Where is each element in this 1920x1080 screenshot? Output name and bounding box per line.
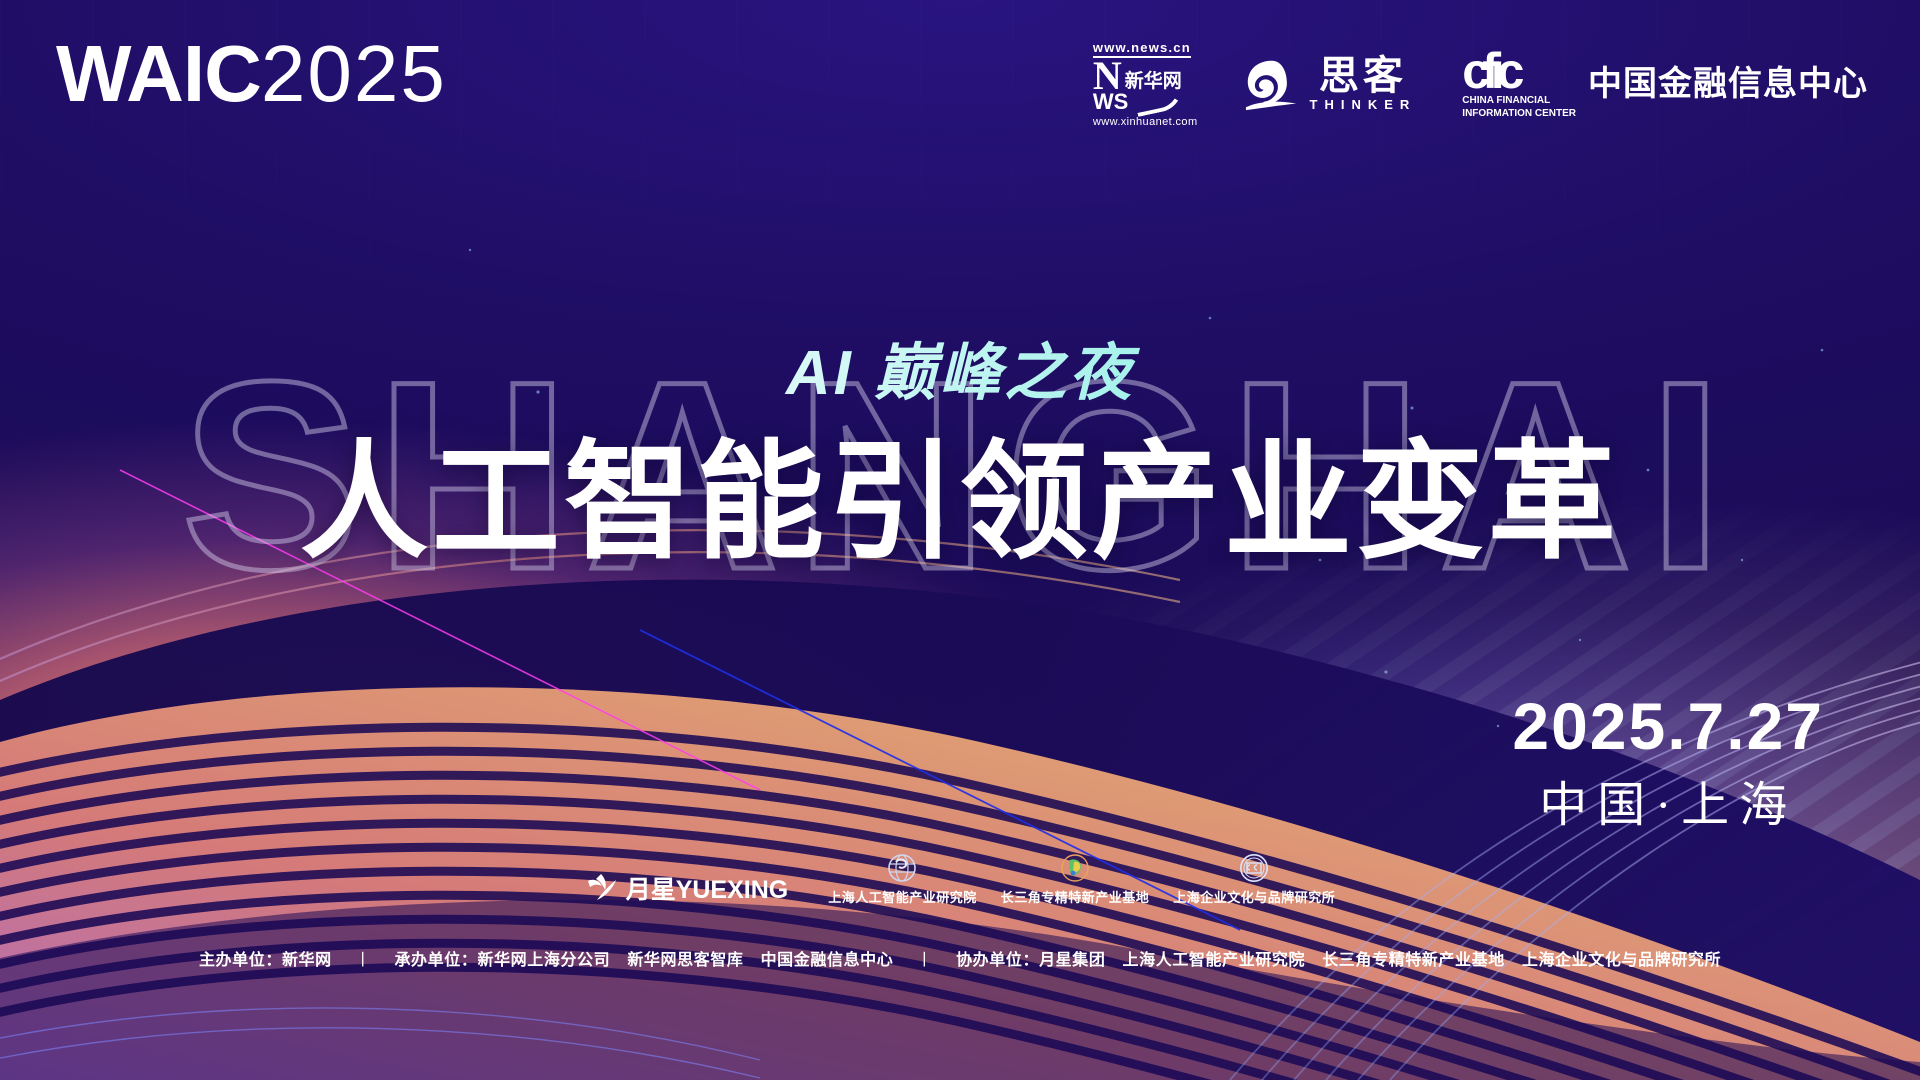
partner-yuexing-label: 月星YUEXING <box>626 870 789 906</box>
waic-logo-year: 2025 <box>261 29 447 118</box>
credits-line: 主办单位：新华网 丨 承办单位：新华网上海分公司 新华网思客智库 中国金融信息中… <box>0 946 1920 970</box>
credits-coorganizer-3: 长三角专精特新产业基地 <box>1322 946 1505 970</box>
globe-circle-icon <box>887 852 917 884</box>
map-circle-icon <box>1060 852 1090 884</box>
thinker-cn-name: 思客 <box>1319 56 1407 96</box>
poster-canvas: SHANGHAI WAIC2025 www.news.cn N 新华网 WS w… <box>0 0 1920 1080</box>
hero-title: 人工智能引领产业变革 <box>0 432 1920 574</box>
credits-organizer: 承办单位：新华网上海分公司 <box>394 946 610 970</box>
partner-shanghai-brand-institute-label: 上海企业文化与品牌研究所 <box>1173 887 1335 906</box>
partner-logo-row: 月星YUEXING 上海人工智能产业研究院 <box>0 852 1920 906</box>
waic-logo: WAIC2025 <box>56 34 447 114</box>
sponsor-logo-row: www.news.cn N 新华网 WS www.xinhuanet.com <box>1093 40 1868 128</box>
xinhua-logo: www.news.cn N 新华网 WS www.xinhuanet.com <box>1093 40 1198 128</box>
thinker-logo: 思客 THINKER <box>1244 56 1417 112</box>
partner-shanghai-brand-institute: 上海企业文化与品牌研究所 <box>1173 852 1335 906</box>
hero-subtitle: AI 巅峰之夜 <box>0 338 1920 410</box>
partner-yangtze-delta-base: 长三角专精特新产业基地 <box>1001 852 1150 906</box>
waic-logo-name: WAIC <box>56 29 261 118</box>
cfic-logo: cfic CHINA FINANCIAL INFORMATION CENTER … <box>1462 49 1868 119</box>
thinker-en-name: THINKER <box>1310 97 1417 112</box>
partner-yuexing: 月星YUEXING <box>585 870 789 906</box>
cfic-mark: cfic <box>1462 49 1576 93</box>
credits-separator-2: 丨 <box>916 946 933 970</box>
credits-coorganizer-2: 上海人工智能产业研究院 <box>1123 946 1306 970</box>
xinhua-letters-bottom: WS <box>1093 92 1128 111</box>
seal-circle-icon <box>1239 852 1269 884</box>
event-date: 2025.7.27 <box>1512 690 1824 762</box>
cfic-en-line2: INFORMATION CENTER <box>1462 108 1576 119</box>
header: WAIC2025 www.news.cn N 新华网 WS www.xinhua… <box>0 0 1920 140</box>
star-bird-icon <box>585 871 619 903</box>
event-location: 中国·上海 <box>1512 776 1824 836</box>
credits-organizer-3: 中国金融信息中心 <box>761 946 894 970</box>
credits-coorganizer-4: 上海企业文化与品牌研究所 <box>1522 946 1721 970</box>
credits-coorganizer: 协办单位：月星集团 <box>956 946 1105 970</box>
thinker-spiral-icon <box>1244 57 1300 111</box>
partner-yangtze-delta-base-label: 长三角专精特新产业基地 <box>1001 887 1150 906</box>
credits-separator-1: 丨 <box>355 946 372 970</box>
cfic-en-line1: CHINA FINANCIAL <box>1462 95 1576 106</box>
partner-shanghai-ai-institute-label: 上海人工智能产业研究院 <box>828 887 977 906</box>
credits-host: 主办单位：新华网 <box>199 946 332 970</box>
partner-shanghai-ai-institute: 上海人工智能产业研究院 <box>828 852 977 906</box>
cfic-cn-name: 中国金融信息中心 <box>1588 66 1868 102</box>
xinhua-swoosh-icon <box>1135 88 1181 114</box>
event-info: 2025.7.27 中国·上海 <box>1512 690 1824 836</box>
credits-organizer-2: 新华网思客智库 <box>627 946 743 970</box>
xinhua-url-bottom: www.xinhuanet.com <box>1093 116 1198 128</box>
